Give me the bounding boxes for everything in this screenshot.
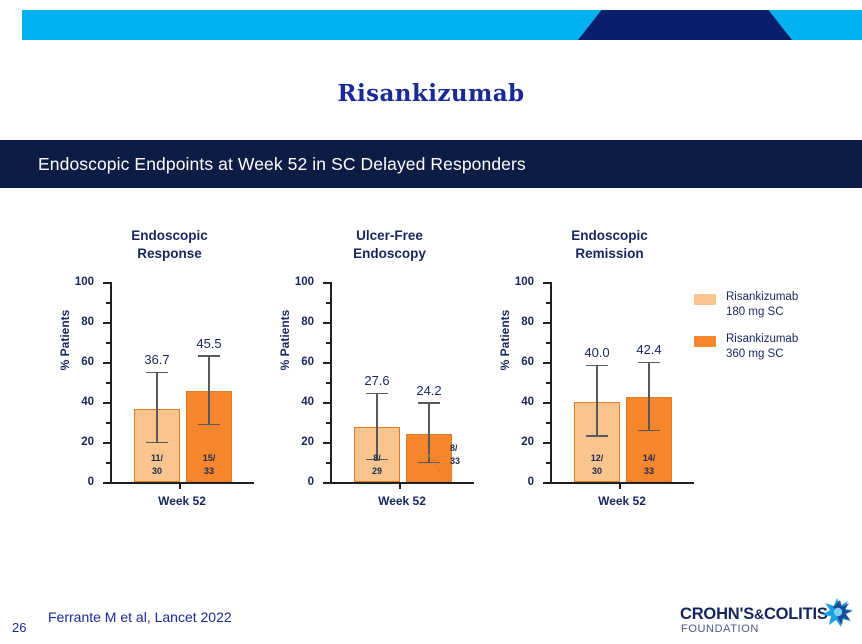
y-axis-tick: 20 bbox=[103, 442, 110, 444]
bar-fraction-label: 11/ 30 bbox=[134, 452, 180, 478]
y-axis-tick-label: 40 bbox=[521, 396, 534, 408]
y-axis-line bbox=[110, 282, 112, 482]
bar-value-label: 42.4 bbox=[618, 342, 680, 357]
bar-group: 40.012/ 30 bbox=[574, 282, 620, 482]
y-axis-minor-tick bbox=[326, 342, 330, 344]
section-heading: Endoscopic Endpoints at Week 52 in SC De… bbox=[0, 154, 526, 175]
legend-item: Risankizumab 180 mg SC bbox=[694, 290, 854, 321]
chart-legend: Risankizumab 180 mg SCRisankizumab 360 m… bbox=[694, 290, 854, 373]
x-axis-label: Week 52 bbox=[550, 494, 694, 508]
y-axis-tick-label: 20 bbox=[301, 436, 314, 448]
y-axis-tick: 40 bbox=[323, 402, 330, 404]
y-axis-minor-tick bbox=[326, 382, 330, 384]
x-axis-tick bbox=[399, 482, 401, 489]
x-axis-line bbox=[110, 482, 254, 484]
x-axis-label: Week 52 bbox=[110, 494, 254, 508]
y-axis-tick: 60 bbox=[543, 362, 550, 364]
error-bar-cap-upper bbox=[638, 362, 660, 364]
bar-fraction-label: 8/ 29 bbox=[354, 452, 400, 478]
x-axis-label: Week 52 bbox=[330, 494, 474, 508]
slide-number: 26 bbox=[12, 620, 26, 635]
plot-canvas: 020406080100Week 5240.012/ 3042.414/ 33 bbox=[550, 282, 710, 492]
y-axis-tick-label: 20 bbox=[521, 436, 534, 448]
bar-fraction-label: 8/ 33 bbox=[450, 442, 484, 468]
bar-value-label: 36.7 bbox=[126, 352, 188, 367]
x-axis-tick bbox=[619, 482, 621, 489]
y-axis-minor-tick bbox=[326, 302, 330, 304]
error-bar-cap-upper bbox=[146, 372, 168, 374]
y-axis-tick-label: 0 bbox=[308, 476, 314, 488]
legend-swatch-180 bbox=[694, 294, 716, 305]
error-bar-cap-lower bbox=[146, 442, 168, 444]
y-axis-tick-label: 0 bbox=[88, 476, 94, 488]
citation-text: Ferrante M et al, Lancet 2022 bbox=[48, 609, 232, 625]
header-accent-notch bbox=[578, 10, 792, 40]
x-axis-tick bbox=[179, 482, 181, 489]
x-axis-line bbox=[550, 482, 694, 484]
y-axis-tick-label: 80 bbox=[81, 316, 94, 328]
plot-area: % Patients020406080100Week 5240.012/ 304… bbox=[502, 274, 717, 522]
y-axis-tick-label: 100 bbox=[75, 276, 94, 288]
y-axis-tick-label: 40 bbox=[81, 396, 94, 408]
error-bar-cap-lower bbox=[586, 435, 608, 437]
starburst-icon bbox=[813, 595, 855, 629]
error-bar-cap-lower bbox=[198, 424, 220, 426]
legend-label: Risankizumab 360 mg SC bbox=[726, 332, 798, 363]
bar-group: 24.28/ 33 bbox=[406, 282, 452, 482]
bar-group: 45.515/ 33 bbox=[186, 282, 232, 482]
y-axis-tick: 0 bbox=[103, 482, 110, 484]
y-axis-tick-label: 40 bbox=[301, 396, 314, 408]
error-bar bbox=[208, 357, 210, 425]
y-axis-tick: 0 bbox=[323, 482, 330, 484]
bar-value-label: 24.2 bbox=[398, 383, 460, 398]
bar-value-label: 45.5 bbox=[178, 336, 240, 351]
y-axis-tick: 100 bbox=[323, 282, 330, 284]
chart-panel: Ulcer-Free Endoscopy% Patients0204060801… bbox=[282, 222, 497, 522]
y-axis-tick: 100 bbox=[543, 282, 550, 284]
y-axis-tick: 0 bbox=[543, 482, 550, 484]
y-axis-minor-tick bbox=[106, 382, 110, 384]
error-bar bbox=[596, 366, 598, 436]
error-bar bbox=[648, 363, 650, 431]
y-axis-line bbox=[330, 282, 332, 482]
y-axis-minor-tick bbox=[106, 302, 110, 304]
y-axis-tick: 80 bbox=[103, 322, 110, 324]
plot-canvas: 020406080100Week 5227.68/ 2924.28/ 33 bbox=[330, 282, 490, 492]
logo-wordmark: CROHN'S&COLITIS bbox=[680, 605, 828, 624]
bar-fraction-label: 15/ 33 bbox=[186, 452, 232, 478]
error-bar bbox=[156, 373, 158, 443]
bar-group: 42.414/ 33 bbox=[626, 282, 672, 482]
y-axis-tick-label: 80 bbox=[521, 316, 534, 328]
y-axis-tick: 60 bbox=[103, 362, 110, 364]
y-axis-tick-label: 100 bbox=[515, 276, 534, 288]
bar-fraction-label: 14/ 33 bbox=[626, 452, 672, 478]
bar-group: 36.711/ 30 bbox=[134, 282, 180, 482]
y-axis-minor-tick bbox=[546, 462, 550, 464]
y-axis-tick: 20 bbox=[543, 442, 550, 444]
y-axis-minor-tick bbox=[326, 422, 330, 424]
y-axis-tick: 80 bbox=[543, 322, 550, 324]
y-axis-minor-tick bbox=[106, 462, 110, 464]
y-axis-tick: 100 bbox=[103, 282, 110, 284]
y-axis-tick-label: 60 bbox=[81, 356, 94, 368]
page-title: Risankizumab bbox=[0, 80, 862, 107]
y-axis-minor-tick bbox=[546, 382, 550, 384]
legend-label: Risankizumab 180 mg SC bbox=[726, 290, 798, 321]
y-axis-label: % Patients bbox=[498, 290, 512, 390]
y-axis-tick-label: 20 bbox=[81, 436, 94, 448]
y-axis-line bbox=[550, 282, 552, 482]
y-axis-minor-tick bbox=[326, 462, 330, 464]
y-axis-label: % Patients bbox=[278, 290, 292, 390]
error-bar-cap-upper bbox=[418, 402, 440, 404]
error-bar bbox=[376, 394, 378, 460]
plot-canvas: 020406080100Week 5236.711/ 3045.515/ 33 bbox=[110, 282, 270, 492]
bar-group: 27.68/ 29 bbox=[354, 282, 400, 482]
logo-subtext: FOUNDATION bbox=[681, 623, 759, 635]
y-axis-tick-label: 60 bbox=[521, 356, 534, 368]
section-banner: Endoscopic Endpoints at Week 52 in SC De… bbox=[0, 140, 862, 188]
chart-title: Endoscopic Response bbox=[62, 227, 277, 262]
y-axis-label: % Patients bbox=[58, 290, 72, 390]
error-bar-cap-upper bbox=[198, 355, 220, 357]
plot-area: % Patients020406080100Week 5236.711/ 304… bbox=[62, 274, 277, 522]
chart-panel: Endoscopic Remission% Patients0204060801… bbox=[502, 222, 717, 522]
y-axis-tick-label: 100 bbox=[295, 276, 314, 288]
y-axis-tick: 40 bbox=[103, 402, 110, 404]
y-axis-minor-tick bbox=[546, 342, 550, 344]
y-axis-minor-tick bbox=[106, 342, 110, 344]
y-axis-tick-label: 60 bbox=[301, 356, 314, 368]
y-axis-tick: 80 bbox=[323, 322, 330, 324]
y-axis-minor-tick bbox=[546, 422, 550, 424]
y-axis-tick: 60 bbox=[323, 362, 330, 364]
y-axis-tick: 20 bbox=[323, 442, 330, 444]
bar-fraction-label: 12/ 30 bbox=[574, 452, 620, 478]
y-axis-tick-label: 80 bbox=[301, 316, 314, 328]
y-axis-minor-tick bbox=[106, 422, 110, 424]
error-bar-cap-upper bbox=[586, 365, 608, 367]
error-bar-cap-lower bbox=[638, 430, 660, 432]
chart-panel: Endoscopic Response% Patients02040608010… bbox=[62, 222, 277, 522]
legend-item: Risankizumab 360 mg SC bbox=[694, 332, 854, 363]
y-axis-tick: 40 bbox=[543, 402, 550, 404]
error-bar-cap-upper bbox=[366, 393, 388, 395]
plot-area: % Patients020406080100Week 5227.68/ 2924… bbox=[282, 274, 497, 522]
error-bar-cap-lower bbox=[418, 462, 440, 464]
y-axis-minor-tick bbox=[546, 302, 550, 304]
legend-swatch-360 bbox=[694, 336, 716, 347]
x-axis-line bbox=[330, 482, 474, 484]
y-axis-tick-label: 0 bbox=[528, 476, 534, 488]
crohns-colitis-foundation-logo: CROHN'S&COLITIS FOUNDATION bbox=[680, 597, 855, 639]
chart-title: Ulcer-Free Endoscopy bbox=[282, 227, 497, 262]
chart-title: Endoscopic Remission bbox=[502, 227, 717, 262]
